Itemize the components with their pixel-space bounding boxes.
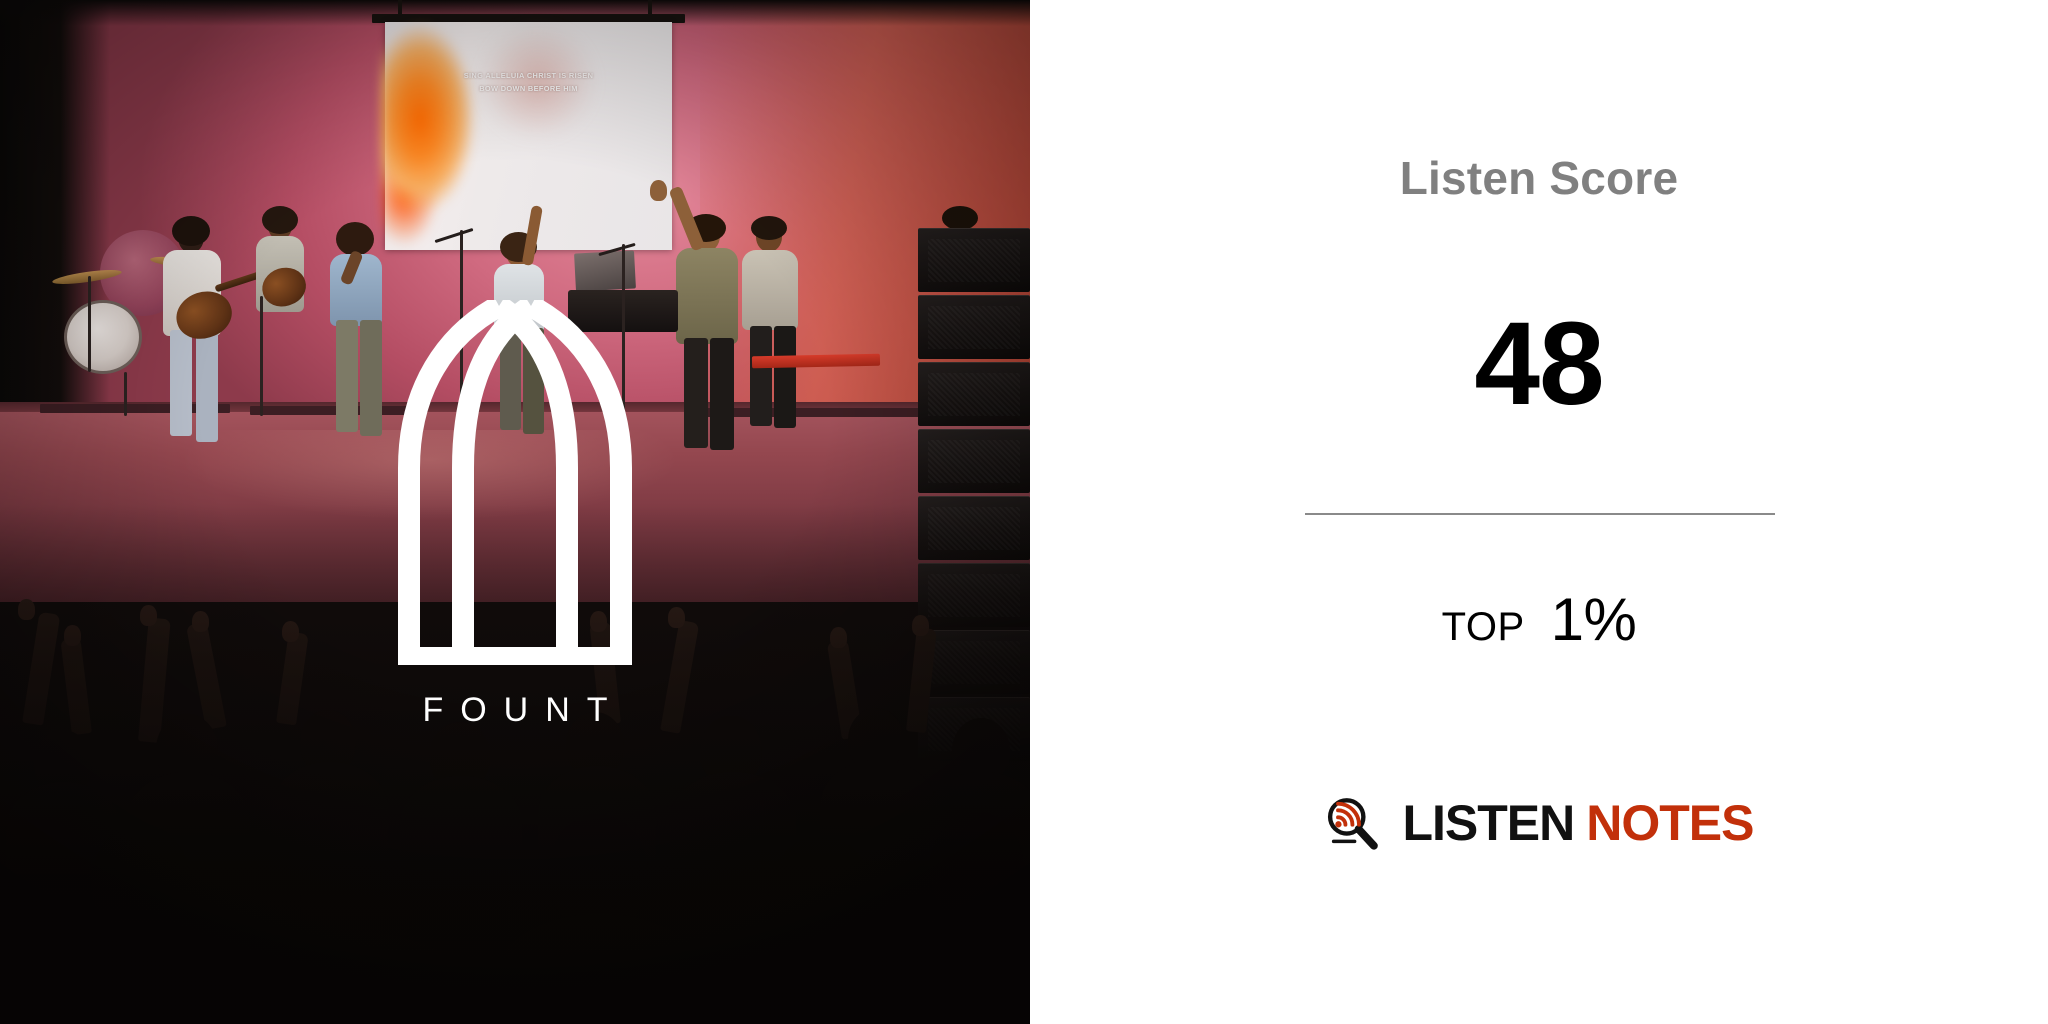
panel-divider [1305, 513, 1775, 515]
listen-notes-wordmark: LISTENNOTES [1402, 798, 1753, 848]
listen-score-value: 48 [1030, 305, 2048, 423]
magnifier-rss-icon [1324, 795, 1380, 851]
listen-score-title: Listen Score [1030, 155, 2048, 201]
podcast-cover-art: SING ALLELUIA CHRIST IS RISEN BOW DOWN B… [0, 0, 1030, 1024]
gothic-arch-logo-icon [395, 300, 635, 665]
top-rank-row: TOP 1% [1030, 590, 2048, 650]
brand-word-listen: LISTEN [1402, 795, 1574, 851]
top-rank-value: 1% [1551, 590, 1637, 650]
listen-notes-brand[interactable]: LISTENNOTES [1030, 795, 2048, 851]
brand-word-notes: NOTES [1586, 795, 1753, 851]
listen-score-panel: Listen Score 48 TOP 1% LISTENNOT [1030, 0, 2048, 1024]
top-rank-label: TOP [1442, 607, 1525, 647]
fount-logo: FOUNT [0, 300, 1030, 727]
listen-score-card: SING ALLELUIA CHRIST IS RISEN BOW DOWN B… [0, 0, 2048, 1024]
fount-wordmark: FOUNT [405, 693, 624, 727]
